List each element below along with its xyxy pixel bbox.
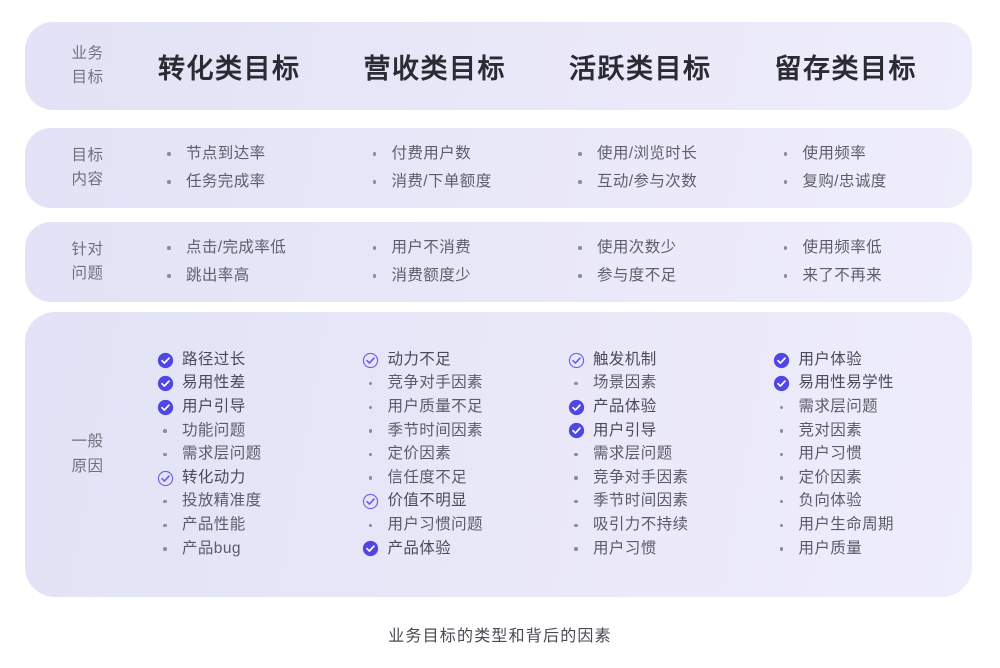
reason-item-marker bbox=[360, 429, 382, 433]
reason-item-marker bbox=[565, 500, 587, 504]
reason-item: 用户体验 bbox=[771, 351, 973, 370]
list-item-label: 消费额度少 bbox=[392, 267, 472, 286]
reason-item: 易用性易学性 bbox=[771, 374, 973, 393]
bullet-dot-icon bbox=[574, 476, 578, 480]
bullet-dot-icon bbox=[780, 524, 784, 528]
column-activity: 使用次数少参与度不足 bbox=[561, 222, 767, 302]
reason-item: 需求层问题 bbox=[771, 398, 973, 417]
column-conversion: 节点到达率任务完成率 bbox=[150, 128, 356, 208]
bullet-dot-icon bbox=[578, 152, 582, 156]
reason-item: 需求层问题 bbox=[565, 445, 767, 464]
bullet-dot-icon bbox=[780, 476, 784, 480]
reason-item-label: 用户习惯 bbox=[593, 540, 657, 559]
bullet-dot-icon bbox=[578, 180, 582, 184]
reason-item: 季节时间因素 bbox=[360, 422, 562, 441]
reason-item: 竞对因素 bbox=[771, 422, 973, 441]
row-label-target-problem: 针对 问题 bbox=[25, 238, 150, 286]
bullet-list: 使用频率低来了不再来 bbox=[767, 239, 973, 285]
row-target-problem: 针对 问题 点击/完成率低跳出率高 用户不消费消费额度少 使用次数少参与度不足 … bbox=[25, 222, 972, 302]
bullet-dot-icon bbox=[780, 500, 784, 504]
check-circle-filled-icon bbox=[157, 399, 174, 416]
bullet-dot-icon bbox=[369, 429, 373, 433]
reason-item: 转化动力 bbox=[154, 469, 356, 488]
reason-item-marker bbox=[565, 547, 587, 551]
reason-item-marker bbox=[565, 382, 587, 386]
list-item-marker bbox=[158, 180, 180, 184]
reason-item-marker bbox=[565, 476, 587, 480]
check-circle-filled-icon bbox=[568, 399, 585, 416]
reason-item-marker bbox=[771, 429, 793, 433]
list-item-marker bbox=[158, 152, 180, 156]
reason-item-marker bbox=[771, 500, 793, 504]
list-item-marker bbox=[364, 152, 386, 156]
reason-item: 用户习惯 bbox=[565, 540, 767, 559]
list-item: 互动/参与次数 bbox=[569, 173, 767, 192]
reason-item-marker bbox=[771, 524, 793, 528]
reason-item-label: 易用性易学性 bbox=[799, 374, 894, 393]
list-item-marker bbox=[364, 274, 386, 278]
reason-item-marker bbox=[154, 547, 176, 551]
bullet-dot-icon bbox=[780, 453, 784, 457]
reason-item-label: 价值不明显 bbox=[388, 492, 468, 511]
bullet-dot-icon bbox=[369, 382, 373, 386]
list-item-marker bbox=[158, 246, 180, 250]
bullet-dot-icon bbox=[369, 406, 373, 410]
column-activity: 使用/浏览时长互动/参与次数 bbox=[561, 128, 767, 208]
reason-item-label: 负向体验 bbox=[799, 492, 863, 511]
reason-item-label: 竞对因素 bbox=[799, 422, 863, 441]
bullet-dot-icon bbox=[784, 152, 788, 156]
list-item-marker bbox=[158, 274, 180, 278]
column-revenue: 动力不足竞争对手因素用户质量不足季节时间因素定价因素信任度不足价值不明显用户习惯… bbox=[356, 312, 562, 597]
bullet-dot-icon bbox=[780, 429, 784, 433]
column-revenue: 付费用户数消费/下单额度 bbox=[356, 128, 562, 208]
bullet-dot-icon bbox=[784, 246, 788, 250]
reason-item: 触发机制 bbox=[565, 351, 767, 370]
reason-item: 产品bug bbox=[154, 540, 356, 559]
reason-item-label: 需求层问题 bbox=[799, 398, 879, 417]
reason-item-label: 吸引力不持续 bbox=[593, 516, 688, 535]
check-circle-filled-icon bbox=[568, 422, 585, 439]
column-retention: 留存类目标 bbox=[767, 22, 973, 110]
bullet-list: 使用/浏览时长互动/参与次数 bbox=[561, 145, 767, 191]
reason-item: 季节时间因素 bbox=[565, 492, 767, 511]
reason-item: 用户习惯问题 bbox=[360, 516, 562, 535]
target-problem-columns: 点击/完成率低跳出率高 用户不消费消费额度少 使用次数少参与度不足 使用频率低来… bbox=[150, 222, 972, 302]
bullet-dot-icon bbox=[163, 547, 167, 551]
reason-item-label: 产品bug bbox=[182, 540, 241, 559]
bullet-dot-icon bbox=[163, 524, 167, 528]
list-item-marker bbox=[569, 152, 591, 156]
reason-item-label: 定价因素 bbox=[388, 445, 452, 464]
list-item-label: 使用频率低 bbox=[803, 239, 883, 258]
list-item-label: 来了不再来 bbox=[803, 267, 883, 286]
reason-item-label: 路径过长 bbox=[182, 351, 246, 370]
list-item: 跳出率高 bbox=[158, 267, 356, 286]
column-title: 营收类目标 bbox=[356, 47, 562, 86]
reason-item: 场景因素 bbox=[565, 374, 767, 393]
column-activity: 活跃类目标 bbox=[561, 22, 767, 110]
list-item-marker bbox=[569, 180, 591, 184]
list-item-label: 互动/参与次数 bbox=[597, 173, 697, 192]
list-item-marker bbox=[569, 274, 591, 278]
column-retention: 使用频率复购/忠诚度 bbox=[767, 128, 973, 208]
list-item-label: 消费/下单额度 bbox=[392, 173, 492, 192]
bullet-list: 使用频率复购/忠诚度 bbox=[767, 145, 973, 191]
list-item-marker bbox=[569, 246, 591, 250]
column-activity: 触发机制场景因素产品体验用户引导需求层问题竞争对手因素季节时间因素吸引力不持续用… bbox=[561, 312, 767, 597]
check-circle-filled-icon bbox=[362, 540, 379, 557]
business-goals-table: 业务 目标 转化类目标 营收类目标 活跃类目标 留存类目标 目标 内容 节点到达… bbox=[0, 0, 1000, 668]
list-item-label: 使用频率 bbox=[803, 145, 867, 164]
reason-item-label: 功能问题 bbox=[182, 422, 246, 441]
bullet-dot-icon bbox=[780, 547, 784, 551]
reason-item: 路径过长 bbox=[154, 351, 356, 370]
row-label-goal-content: 目标 内容 bbox=[25, 144, 150, 192]
check-circle-filled-icon bbox=[773, 375, 790, 392]
bullet-list: 用户不消费消费额度少 bbox=[356, 239, 562, 285]
list-item-label: 复购/忠诚度 bbox=[803, 173, 887, 192]
bullet-dot-icon bbox=[780, 406, 784, 410]
reason-item: 负向体验 bbox=[771, 492, 973, 511]
list-item: 任务完成率 bbox=[158, 173, 356, 192]
reason-item-label: 竞争对手因素 bbox=[593, 469, 688, 488]
bullet-list: 付费用户数消费/下单额度 bbox=[356, 145, 562, 191]
reason-item-marker bbox=[154, 500, 176, 504]
bullet-list: 点击/完成率低跳出率高 bbox=[150, 239, 356, 285]
column-revenue: 用户不消费消费额度少 bbox=[356, 222, 562, 302]
list-item: 节点到达率 bbox=[158, 145, 356, 164]
check-circle-outline-icon bbox=[362, 352, 379, 369]
list-item-label: 参与度不足 bbox=[597, 267, 677, 286]
row-goal-content: 目标 内容 节点到达率任务完成率 付费用户数消费/下单额度 使用/浏览时长互动/… bbox=[25, 128, 972, 208]
reason-list: 路径过长易用性差用户引导功能问题需求层问题转化动力投放精准度产品性能产品bug bbox=[150, 351, 356, 558]
list-item: 付费用户数 bbox=[364, 145, 562, 164]
reason-item-marker bbox=[154, 470, 176, 487]
reason-item: 用户习惯 bbox=[771, 445, 973, 464]
reason-item-label: 场景因素 bbox=[593, 374, 657, 393]
reason-item-label: 需求层问题 bbox=[593, 445, 673, 464]
bullet-dot-icon bbox=[574, 500, 578, 504]
list-item-label: 使用次数少 bbox=[597, 239, 677, 258]
list-item-marker bbox=[364, 246, 386, 250]
reason-item-label: 季节时间因素 bbox=[593, 492, 688, 511]
bullet-dot-icon bbox=[163, 500, 167, 504]
bullet-dot-icon bbox=[574, 547, 578, 551]
reason-item: 用户质量不足 bbox=[360, 398, 562, 417]
reason-item-marker bbox=[154, 375, 176, 392]
reason-item-marker bbox=[360, 352, 382, 369]
column-conversion: 转化类目标 bbox=[150, 22, 356, 110]
list-item-marker bbox=[775, 152, 797, 156]
reason-item-label: 用户生命周期 bbox=[799, 516, 894, 535]
bullet-dot-icon bbox=[373, 180, 377, 184]
reason-item-label: 产品体验 bbox=[593, 398, 657, 417]
list-item-label: 任务完成率 bbox=[186, 173, 266, 192]
row-label-general-reasons: 一般 原因 bbox=[25, 430, 150, 478]
reason-item-marker bbox=[565, 422, 587, 439]
bullet-dot-icon bbox=[574, 524, 578, 528]
reason-item: 产品性能 bbox=[154, 516, 356, 535]
reason-item: 功能问题 bbox=[154, 422, 356, 441]
figure-caption: 业务目标的类型和背后的因素 bbox=[0, 622, 1000, 646]
bullet-dot-icon bbox=[163, 429, 167, 433]
reason-item-marker bbox=[771, 476, 793, 480]
reason-item-label: 用户引导 bbox=[182, 398, 246, 417]
reason-item: 产品体验 bbox=[360, 540, 562, 559]
reason-item: 定价因素 bbox=[771, 469, 973, 488]
reason-item-marker bbox=[154, 352, 176, 369]
column-retention: 用户体验易用性易学性需求层问题竞对因素用户习惯定价因素负向体验用户生命周期用户质… bbox=[767, 312, 973, 597]
bullet-dot-icon bbox=[167, 274, 171, 278]
list-item-marker bbox=[775, 180, 797, 184]
goal-content-columns: 节点到达率任务完成率 付费用户数消费/下单额度 使用/浏览时长互动/参与次数 使… bbox=[150, 128, 972, 208]
check-circle-outline-icon bbox=[157, 470, 174, 487]
column-conversion: 点击/完成率低跳出率高 bbox=[150, 222, 356, 302]
list-item: 消费额度少 bbox=[364, 267, 562, 286]
reason-item-marker bbox=[771, 453, 793, 457]
reason-item: 用户引导 bbox=[154, 398, 356, 417]
reason-item-marker bbox=[565, 524, 587, 528]
list-item: 使用/浏览时长 bbox=[569, 145, 767, 164]
bullet-list: 使用次数少参与度不足 bbox=[561, 239, 767, 285]
reason-item-marker bbox=[771, 547, 793, 551]
bullet-dot-icon bbox=[163, 453, 167, 457]
reason-item-label: 用户引导 bbox=[593, 422, 657, 441]
reason-item: 用户生命周期 bbox=[771, 516, 973, 535]
list-item-label: 付费用户数 bbox=[392, 145, 472, 164]
list-item: 用户不消费 bbox=[364, 239, 562, 258]
reason-list: 动力不足竞争对手因素用户质量不足季节时间因素定价因素信任度不足价值不明显用户习惯… bbox=[356, 351, 562, 558]
reason-item: 竞争对手因素 bbox=[360, 374, 562, 393]
row-label-business-goal: 业务 目标 bbox=[25, 42, 150, 90]
reason-item: 吸引力不持续 bbox=[565, 516, 767, 535]
column-title: 留存类目标 bbox=[767, 47, 973, 86]
bullet-dot-icon bbox=[578, 246, 582, 250]
reason-item-label: 需求层问题 bbox=[182, 445, 262, 464]
bullet-dot-icon bbox=[369, 524, 373, 528]
reason-item-marker bbox=[154, 399, 176, 416]
bullet-dot-icon bbox=[373, 246, 377, 250]
reason-item-marker bbox=[565, 352, 587, 369]
reason-item-label: 动力不足 bbox=[388, 351, 452, 370]
reason-item: 价值不明显 bbox=[360, 492, 562, 511]
reason-item-label: 产品体验 bbox=[388, 540, 452, 559]
bullet-dot-icon bbox=[373, 152, 377, 156]
reason-item: 投放精准度 bbox=[154, 492, 356, 511]
row-business-goal: 业务 目标 转化类目标 营收类目标 活跃类目标 留存类目标 bbox=[25, 22, 972, 110]
bullet-dot-icon bbox=[373, 274, 377, 278]
bullet-dot-icon bbox=[784, 274, 788, 278]
list-item-label: 点击/完成率低 bbox=[186, 239, 286, 258]
list-item-marker bbox=[364, 180, 386, 184]
reason-item-label: 转化动力 bbox=[182, 469, 246, 488]
row-general-reasons: 一般 原因 路径过长易用性差用户引导功能问题需求层问题转化动力投放精准度产品性能… bbox=[25, 312, 972, 597]
reason-item-marker bbox=[565, 399, 587, 416]
reason-item: 用户质量 bbox=[771, 540, 973, 559]
reason-item: 动力不足 bbox=[360, 351, 562, 370]
list-item-marker bbox=[775, 274, 797, 278]
bullet-dot-icon bbox=[167, 152, 171, 156]
list-item: 复购/忠诚度 bbox=[775, 173, 973, 192]
check-circle-filled-icon bbox=[157, 375, 174, 392]
reason-item-label: 竞争对手因素 bbox=[388, 374, 483, 393]
list-item-marker bbox=[775, 246, 797, 250]
check-circle-filled-icon bbox=[773, 352, 790, 369]
header-columns: 转化类目标 营收类目标 活跃类目标 留存类目标 bbox=[150, 22, 972, 110]
reason-item-label: 产品性能 bbox=[182, 516, 246, 535]
reason-item-marker bbox=[360, 382, 382, 386]
reason-item-marker bbox=[771, 406, 793, 410]
reason-item-label: 信任度不足 bbox=[388, 469, 468, 488]
column-title: 活跃类目标 bbox=[561, 47, 767, 86]
reason-item: 竞争对手因素 bbox=[565, 469, 767, 488]
list-item: 使用频率低 bbox=[775, 239, 973, 258]
list-item: 使用次数少 bbox=[569, 239, 767, 258]
reason-item: 需求层问题 bbox=[154, 445, 356, 464]
check-circle-outline-icon bbox=[362, 493, 379, 510]
reason-item-marker bbox=[360, 476, 382, 480]
list-item: 点击/完成率低 bbox=[158, 239, 356, 258]
reason-item-marker bbox=[154, 453, 176, 457]
check-circle-filled-icon bbox=[157, 352, 174, 369]
reason-item-label: 投放精准度 bbox=[182, 492, 262, 511]
reason-item-label: 易用性差 bbox=[182, 374, 246, 393]
reason-item-marker bbox=[360, 540, 382, 557]
reason-item: 产品体验 bbox=[565, 398, 767, 417]
reason-item-label: 触发机制 bbox=[593, 351, 657, 370]
list-item-label: 使用/浏览时长 bbox=[597, 145, 697, 164]
bullet-list: 节点到达率任务完成率 bbox=[150, 145, 356, 191]
reason-item-marker bbox=[360, 406, 382, 410]
column-revenue: 营收类目标 bbox=[356, 22, 562, 110]
reason-item-marker bbox=[154, 429, 176, 433]
bullet-dot-icon bbox=[369, 453, 373, 457]
reason-item-label: 用户习惯问题 bbox=[388, 516, 483, 535]
column-retention: 使用频率低来了不再来 bbox=[767, 222, 973, 302]
list-item-label: 节点到达率 bbox=[186, 145, 266, 164]
list-item-label: 跳出率高 bbox=[186, 267, 250, 286]
bullet-dot-icon bbox=[167, 246, 171, 250]
reason-item-marker bbox=[771, 352, 793, 369]
general-reasons-columns: 路径过长易用性差用户引导功能问题需求层问题转化动力投放精准度产品性能产品bug … bbox=[150, 312, 972, 597]
reason-item: 用户引导 bbox=[565, 422, 767, 441]
reason-item-marker bbox=[565, 453, 587, 457]
list-item: 消费/下单额度 bbox=[364, 173, 562, 192]
reason-item-marker bbox=[360, 453, 382, 457]
bullet-dot-icon bbox=[578, 274, 582, 278]
reason-item: 易用性差 bbox=[154, 374, 356, 393]
list-item-label: 用户不消费 bbox=[392, 239, 472, 258]
reason-item-label: 季节时间因素 bbox=[388, 422, 483, 441]
reason-item-marker bbox=[771, 375, 793, 392]
list-item: 使用频率 bbox=[775, 145, 973, 164]
reason-item-label: 定价因素 bbox=[799, 469, 863, 488]
reason-item-label: 用户习惯 bbox=[799, 445, 863, 464]
reason-item-label: 用户体验 bbox=[799, 351, 863, 370]
list-item: 来了不再来 bbox=[775, 267, 973, 286]
column-title: 转化类目标 bbox=[150, 47, 356, 86]
bullet-dot-icon bbox=[167, 180, 171, 184]
reason-item-marker bbox=[154, 524, 176, 528]
reason-item-marker bbox=[360, 493, 382, 510]
reason-list: 触发机制场景因素产品体验用户引导需求层问题竞争对手因素季节时间因素吸引力不持续用… bbox=[561, 351, 767, 558]
reason-list: 用户体验易用性易学性需求层问题竞对因素用户习惯定价因素负向体验用户生命周期用户质… bbox=[767, 351, 973, 558]
bullet-dot-icon bbox=[784, 180, 788, 184]
check-circle-outline-icon bbox=[568, 352, 585, 369]
reason-item: 信任度不足 bbox=[360, 469, 562, 488]
list-item: 参与度不足 bbox=[569, 267, 767, 286]
bullet-dot-icon bbox=[369, 476, 373, 480]
column-conversion: 路径过长易用性差用户引导功能问题需求层问题转化动力投放精准度产品性能产品bug bbox=[150, 312, 356, 597]
reason-item-label: 用户质量不足 bbox=[388, 398, 483, 417]
reason-item-marker bbox=[360, 524, 382, 528]
reason-item: 定价因素 bbox=[360, 445, 562, 464]
bullet-dot-icon bbox=[574, 453, 578, 457]
bullet-dot-icon bbox=[574, 382, 578, 386]
reason-item-label: 用户质量 bbox=[799, 540, 863, 559]
